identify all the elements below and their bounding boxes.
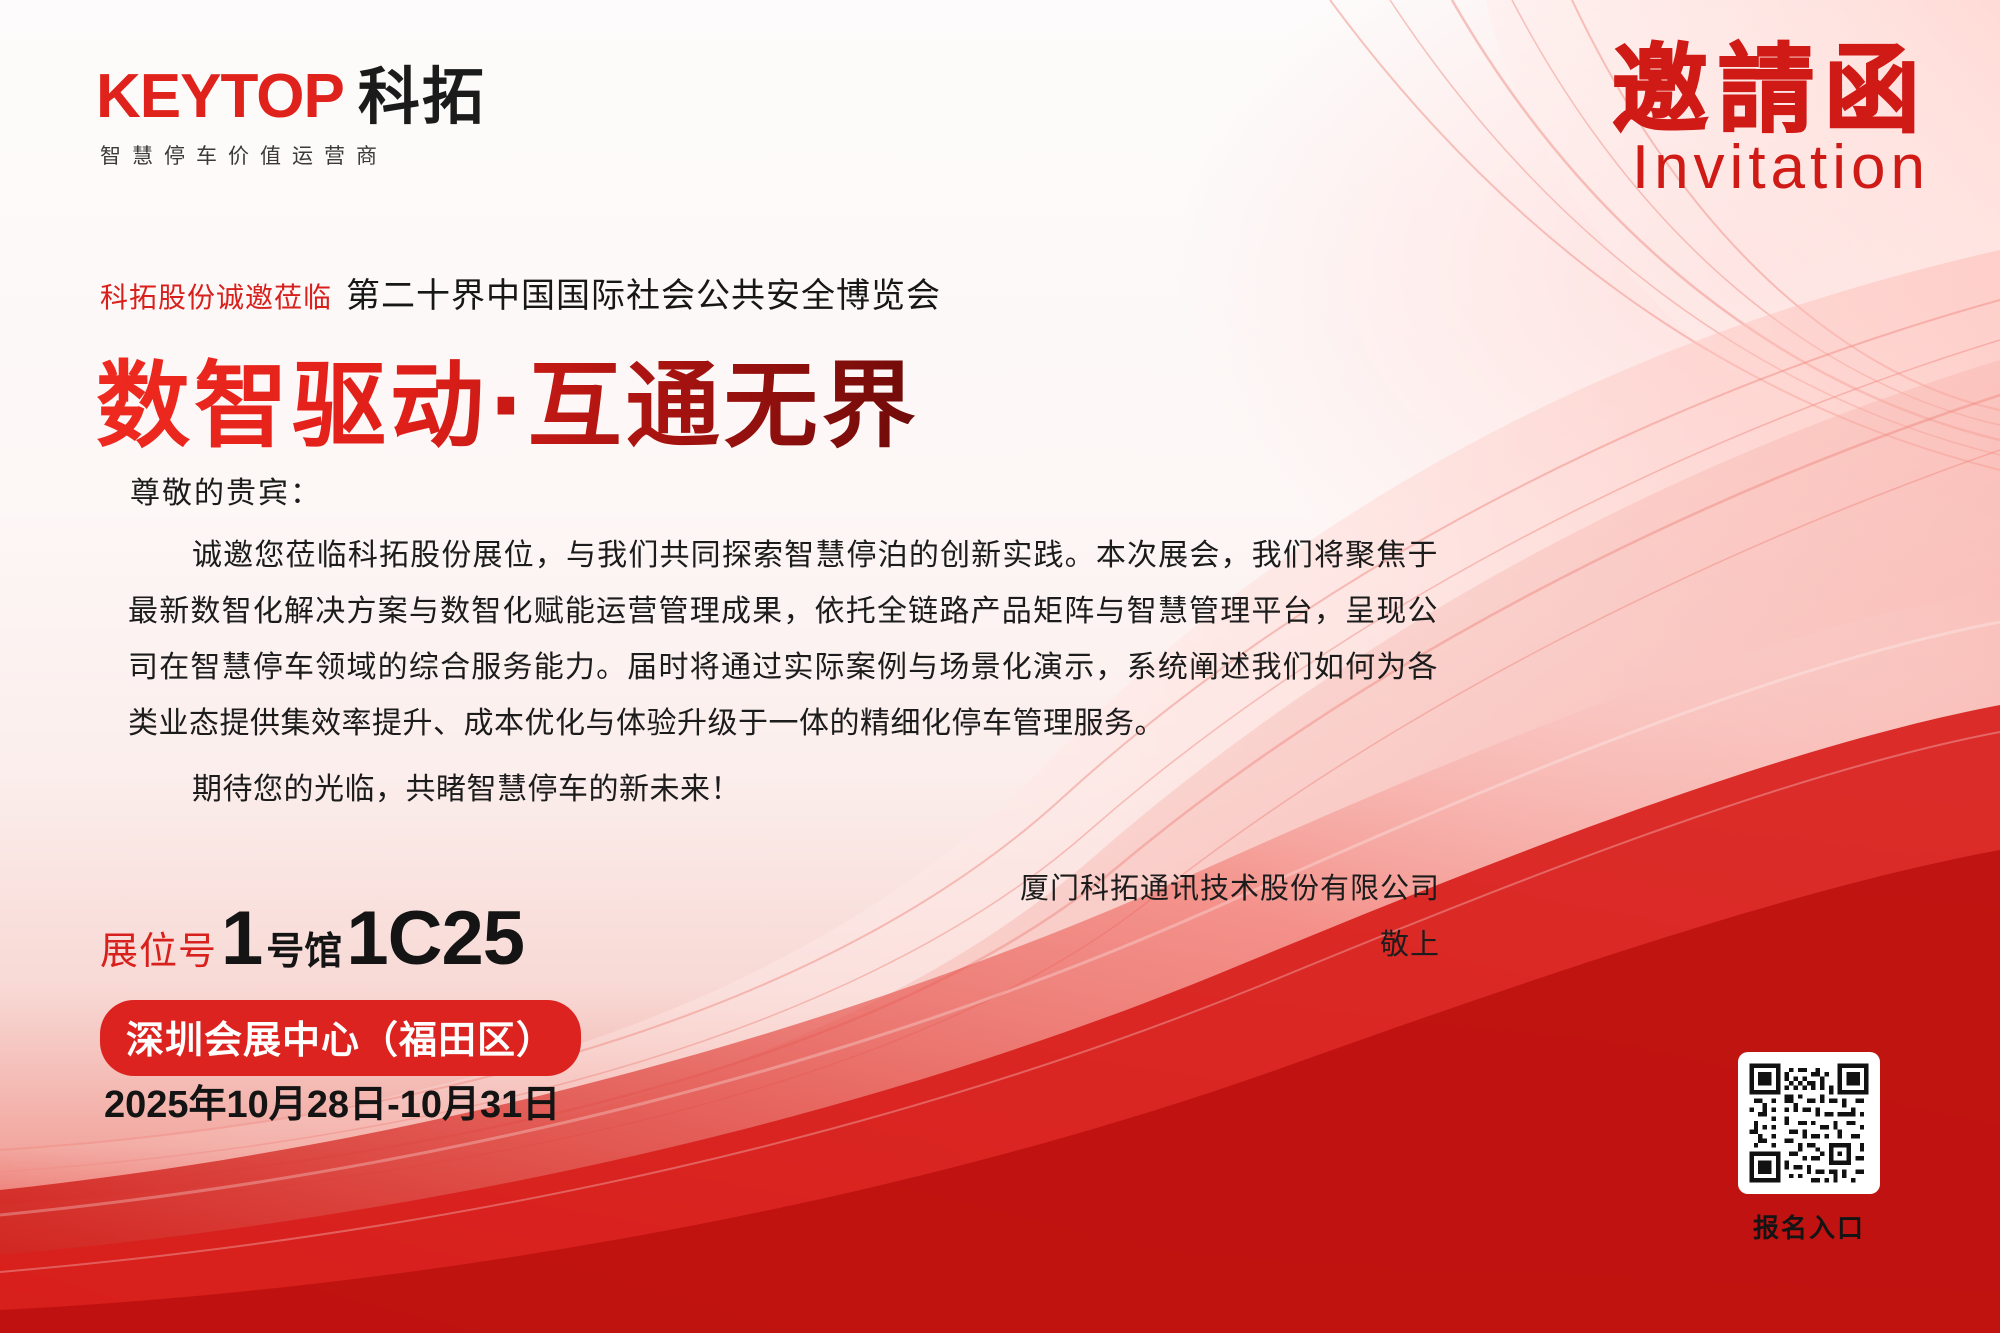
booth-label: 展位号: [100, 920, 217, 975]
signature-company: 厦门科拓通讯技术股份有限公司: [1020, 860, 1440, 916]
booth-hall-number: 1: [221, 895, 262, 982]
event-dates: 2025年10月28日-10月31日: [104, 1073, 560, 1128]
letter-signature: 厦门科拓通讯技术股份有限公司 敬上: [1020, 860, 1440, 972]
invitation-poster: KEYTOP 科拓 智慧停车价值运营商 邀請函 Invitation 科拓股份诚…: [0, 0, 2000, 1333]
brand-tagline: 智慧停车价值运营商: [96, 140, 486, 170]
qr-label: 报名入口: [1738, 1208, 1880, 1245]
brand-logo: KEYTOP 科拓 智慧停车价值运营商: [96, 66, 486, 170]
logo-text-english: KEYTOP: [96, 66, 344, 128]
invitation-mark: 邀請函 Invitation: [1612, 40, 1930, 199]
letter-paragraph-1: 诚邀您莅临科拓股份展位，与我们共同探索智慧停泊的创新实践。本次展会，我们将聚焦于…: [128, 528, 1438, 752]
qr-code[interactable]: [1738, 1052, 1880, 1194]
invitation-mark-english: Invitation: [1612, 137, 1930, 199]
booth-code: 1C25: [346, 895, 524, 982]
logo-text-chinese: 科拓: [358, 66, 486, 128]
page-title: 数智驱动·互通无界: [96, 330, 920, 466]
registration-qr-block[interactable]: 报名入口: [1738, 1052, 1880, 1245]
venue-badge: 深圳会展中心（福田区）: [100, 1000, 581, 1076]
headline-kicker: 科拓股份诚邀莅临 第二十界中国国际社会公共安全博览会: [100, 268, 941, 317]
letter-paragraph-2: 期待您的光临，共睹智慧停车的新未来！: [128, 762, 1438, 818]
invitation-mark-chinese: 邀請函: [1612, 40, 1930, 141]
signature-closing: 敬上: [1020, 916, 1440, 972]
kicker-event-name: 第二十界中国国际社会公共安全博览会: [346, 268, 941, 317]
booth-hall-unit: 号馆: [266, 920, 342, 975]
letter-salutation: 尊敬的贵宾：: [130, 468, 322, 512]
booth-info: 展位号 1 号馆 1C25: [100, 895, 524, 982]
kicker-invite-phrase: 科拓股份诚邀莅临: [100, 276, 332, 316]
